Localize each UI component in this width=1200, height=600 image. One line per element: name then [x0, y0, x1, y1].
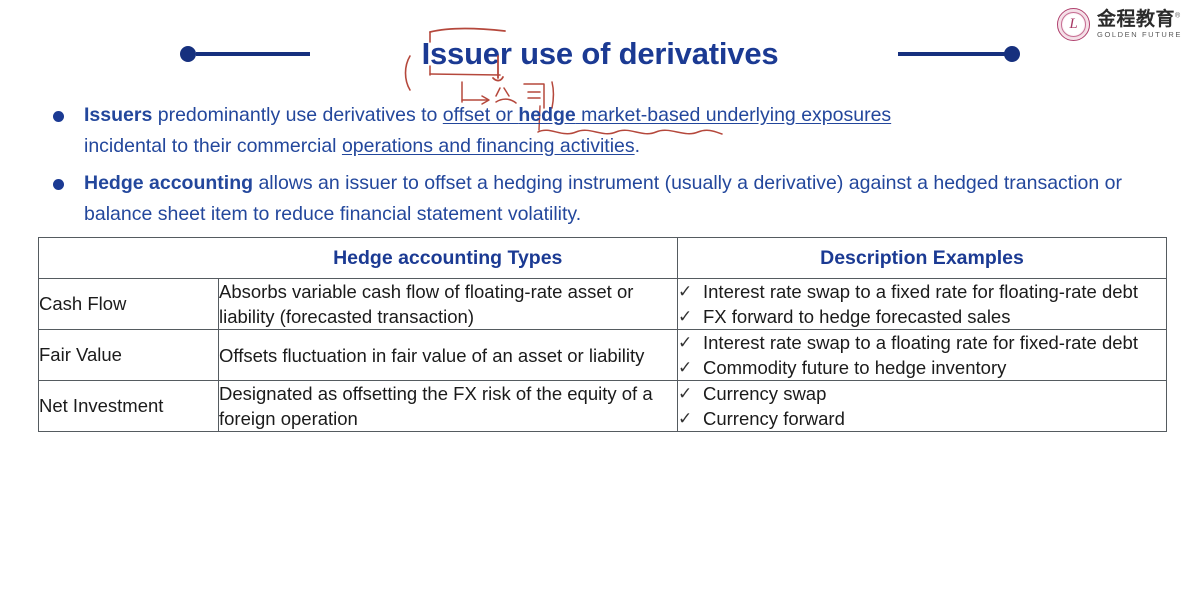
list-item: ✓ Interest rate swap to a floating rate …: [678, 330, 1166, 355]
row-type-cash-flow: Cash Flow: [39, 279, 219, 330]
logo-name-cn: 金程教育®: [1097, 10, 1182, 29]
ink-stroke-foot-icon: [493, 77, 503, 81]
bullet-1-line2-b: .: [635, 135, 640, 157]
row-examples-fair-value: ✓ Interest rate swap to a floating rate …: [678, 330, 1167, 381]
list-item-label: Commodity future to hedge inventory: [703, 357, 1006, 378]
table-row: Cash Flow Absorbs variable cash flow of …: [39, 279, 1167, 330]
table-row: Fair Value Offsets fluctuation in fair v…: [39, 330, 1167, 381]
logo-wordmark: 金程教育® GOLDEN FUTURE: [1097, 10, 1182, 39]
bullet-item-issuers: Issuers predominantly use derivatives to…: [44, 100, 1174, 162]
table-header-row: Hedge accounting Types Description Examp…: [39, 238, 1167, 279]
check-icon: ✓: [678, 279, 692, 304]
list-item-label: Currency forward: [703, 408, 845, 429]
list-item: ✓ FX forward to hedge forecasted sales: [678, 304, 1166, 329]
row-type-net-investment: Net Investment: [39, 381, 219, 432]
bullet-1-line2-link: operations and financing activities: [342, 135, 635, 157]
registered-mark: ®: [1175, 13, 1181, 20]
check-icon: ✓: [678, 355, 692, 380]
bullet-1-link-bold: hedge: [518, 104, 575, 126]
bullet-1-lead: Issuers: [84, 104, 152, 126]
row-type-fair-value: Fair Value: [39, 330, 219, 381]
list-item: ✓ Commodity future to hedge inventory: [678, 355, 1166, 380]
check-icon: ✓: [678, 304, 692, 329]
bullet-1-link-2: market-based underlying exposures: [576, 104, 891, 126]
bullet-2-lead: Hedge accounting: [84, 172, 253, 194]
ink-underline-icon: [430, 74, 500, 75]
list-item: ✓ Currency forward: [678, 406, 1166, 431]
list-item-label: Currency swap: [703, 383, 826, 404]
check-icon: ✓: [678, 330, 692, 355]
row-description-net-investment: Designated as offsetting the FX risk of …: [219, 381, 678, 432]
table-header-spacer: [39, 238, 219, 279]
check-icon: ✓: [678, 381, 692, 406]
hedge-accounting-table: Hedge accounting Types Description Examp…: [38, 237, 1167, 432]
bullet-list: Issuers predominantly use derivatives to…: [44, 100, 1174, 236]
bullet-marker-icon: [53, 179, 64, 190]
ink-top-bracket-icon: [430, 29, 505, 33]
list-item-label: FX forward to hedge forecasted sales: [703, 306, 1010, 327]
list-item: ✓ Interest rate swap to a fixed rate for…: [678, 279, 1166, 304]
row-description-fair-value: Offsets fluctuation in fair value of an …: [219, 330, 678, 381]
list-item: ✓ Currency swap: [678, 381, 1166, 406]
row-description-cash-flow: Absorbs variable cash flow of floating-r…: [219, 279, 678, 330]
list-item-label: Interest rate swap to a fixed rate for f…: [703, 281, 1138, 302]
check-icon: ✓: [678, 406, 692, 431]
table-row: Net Investment Designated as offsetting …: [39, 381, 1167, 432]
bullet-1-text-a: predominantly use derivatives to: [152, 104, 442, 126]
row-examples-net-investment: ✓ Currency swap ✓ Currency forward: [678, 381, 1167, 432]
bullet-marker-icon: [53, 111, 64, 122]
bullet-item-hedge-accounting: Hedge accounting allows an issuer to off…: [44, 168, 1174, 230]
table-header-descriptions: Description Examples: [678, 238, 1167, 279]
bullet-1-link-1: offset or: [443, 104, 519, 126]
page-title: Issuer use of derivatives: [0, 36, 1200, 72]
slide-canvas: L 金程教育® GOLDEN FUTURE Issuer use of deri…: [0, 0, 1200, 600]
bullet-1-line2-a: incidental to their commercial: [84, 135, 342, 157]
logo-name-cn-text: 金程教育: [1097, 9, 1175, 30]
table-header-types: Hedge accounting Types: [219, 238, 678, 279]
row-examples-cash-flow: ✓ Interest rate swap to a fixed rate for…: [678, 279, 1167, 330]
list-item-label: Interest rate swap to a floating rate fo…: [703, 332, 1138, 353]
